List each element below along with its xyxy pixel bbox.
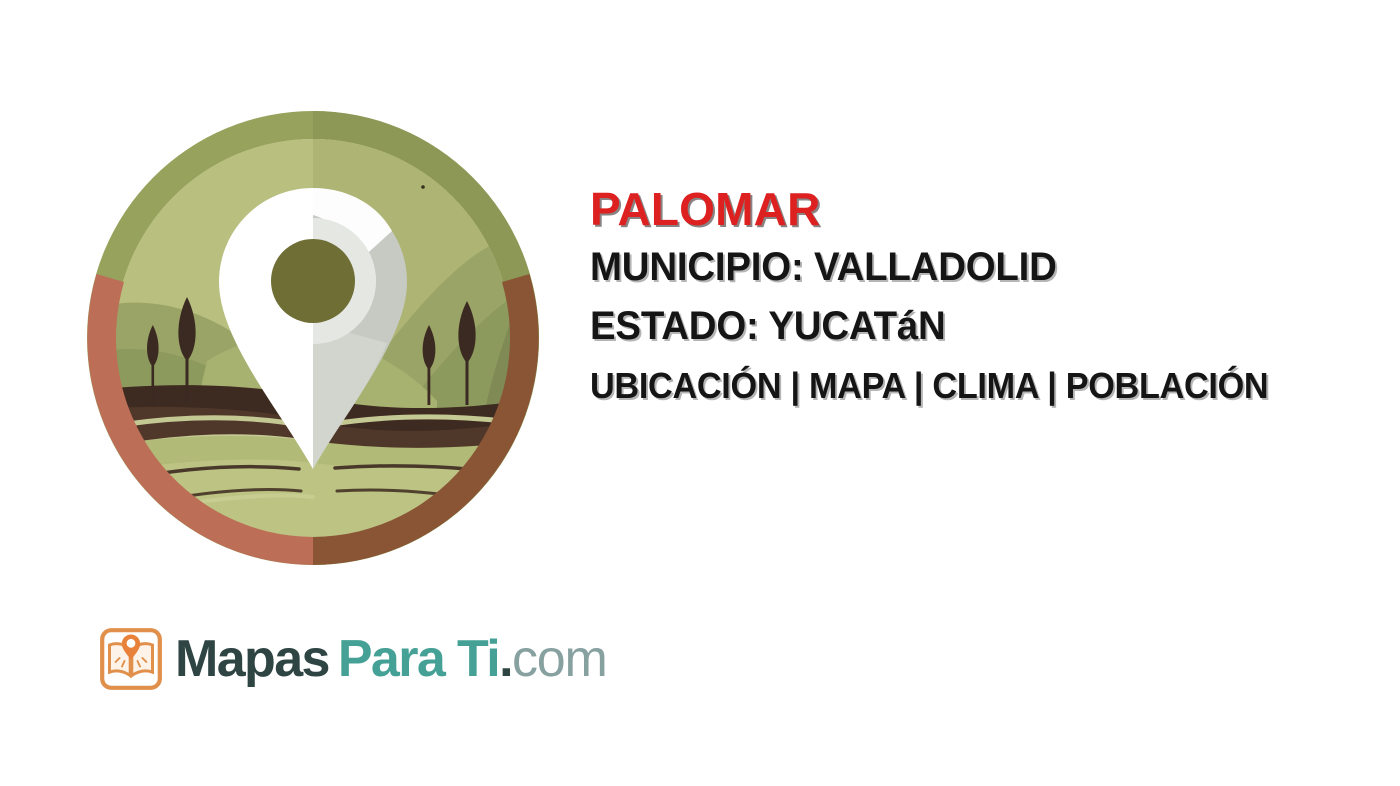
brand-part-parati: Para Ti (338, 631, 499, 687)
brand-part-dot: . (499, 631, 512, 687)
location-landscape-emblem (87, 111, 539, 565)
open-book-pin-icon (100, 628, 162, 690)
page-title: PALOMAR (590, 182, 1380, 236)
section-links[interactable]: UBICACIÓN | MAPA | CLIMA | POBLACIÓN (590, 363, 1341, 409)
location-info-block: PALOMAR MUNICIPIO: VALLADOLID ESTADO: YU… (590, 182, 1380, 409)
municipio-line: MUNICIPIO: VALLADOLID (590, 242, 1348, 292)
brand-wordmark: Mapas Para Ti . com (175, 631, 607, 687)
brand-logo[interactable]: Mapas Para Ti . com (100, 623, 607, 695)
brand-part-mapas: Mapas (175, 631, 329, 687)
brand-part-com: com (512, 631, 607, 687)
info-card: PALOMAR MUNICIPIO: VALLADOLID ESTADO: YU… (0, 0, 1400, 786)
estado-line: ESTADO: YUCATáN (590, 301, 1348, 351)
